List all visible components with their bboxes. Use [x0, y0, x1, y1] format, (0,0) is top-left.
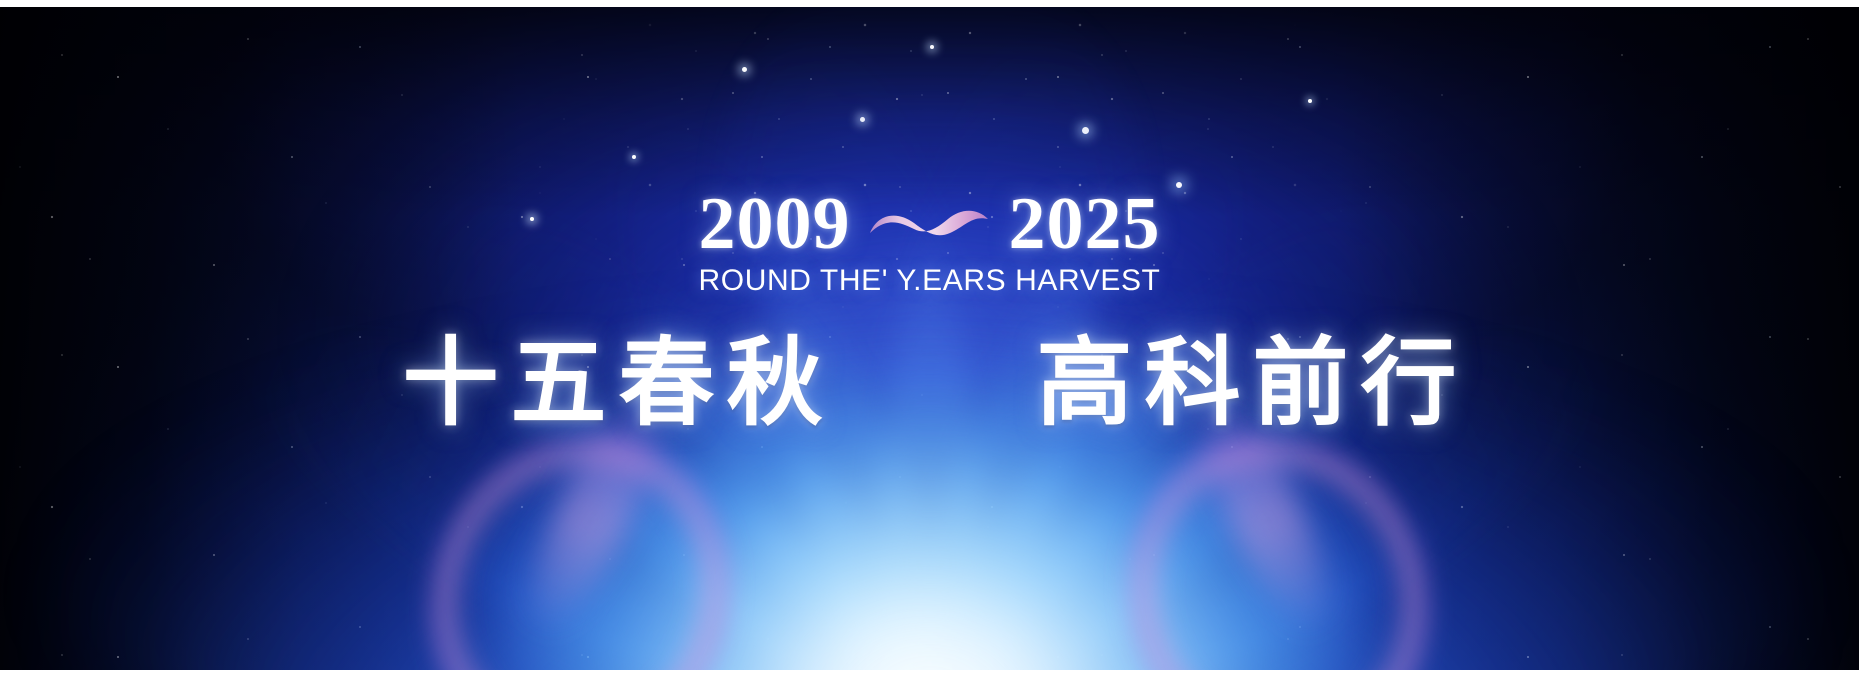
- light-ray: [880, 262, 1650, 672]
- slogan-left: 十五春秋: [391, 330, 835, 438]
- banner-subtitle: ROUND THE' Y.EARS HARVEST: [0, 264, 1859, 298]
- sparkle-star: [1308, 99, 1312, 103]
- wave-tilde-icon: [855, 192, 1005, 262]
- year-range: 2009 2025: [0, 186, 1859, 262]
- top-white-strip: [0, 0, 1859, 7]
- year-end: 2025: [1009, 187, 1161, 261]
- sparkle-star: [530, 217, 534, 221]
- sparkle-star: [1082, 127, 1089, 134]
- sparkle-star: [930, 45, 934, 49]
- bottom-white-strip: [0, 670, 1859, 680]
- sparkle-star: [632, 155, 636, 159]
- slogan-row: 十五春秋 高科前行: [0, 330, 1859, 438]
- light-ray: [209, 262, 979, 672]
- sparkle-star: [860, 117, 865, 122]
- anniversary-banner: 2009 2025 ROUND: [0, 0, 1859, 680]
- slogan-right: 高科前行: [1025, 330, 1469, 438]
- year-start: 2009: [699, 187, 851, 261]
- sparkle-star: [742, 67, 747, 72]
